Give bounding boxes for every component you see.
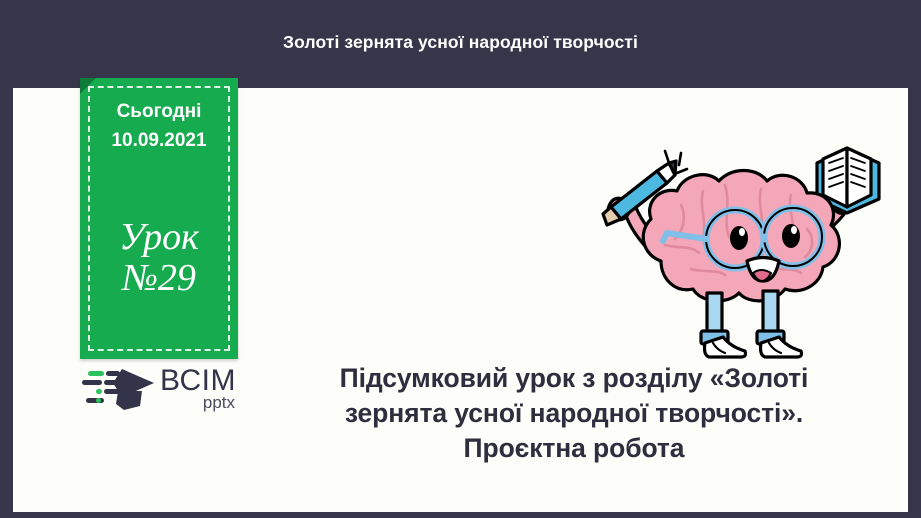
lesson-date-card: Сьогодні 10.09.2021 Урок №29 [80,78,238,359]
main-title: Підсумковий урок з розділу «Золоті зерня… [268,361,880,467]
brand-subtitle: pptx [203,394,235,411]
lesson-number: №29 [119,258,199,299]
brand-text: ВСІМ pptx [160,366,236,411]
lesson-number-block: Урок №29 [119,217,199,299]
main-title-line-3: Проєктна робота [268,431,880,466]
card-content: Сьогодні 10.09.2021 Урок №29 [80,78,238,359]
slide-header: Золоті зернята усної народної творчості [0,0,921,88]
brain-character-illustration [595,133,885,363]
main-title-line-1: Підсумковий урок з розділу «Золоті [268,361,880,396]
header-title: Золоті зернята усної народної творчості [283,32,638,53]
brand-logo: ВСІМ pptx [80,364,250,412]
main-title-line-2: зернята усної народної творчості». [268,396,880,431]
graduation-cap-icon [80,365,158,411]
brand-name: ВСІМ [160,366,236,396]
lesson-date: 10.09.2021 [111,127,206,156]
today-label: Сьогодні [117,98,202,127]
lesson-word: Урок [119,217,199,258]
